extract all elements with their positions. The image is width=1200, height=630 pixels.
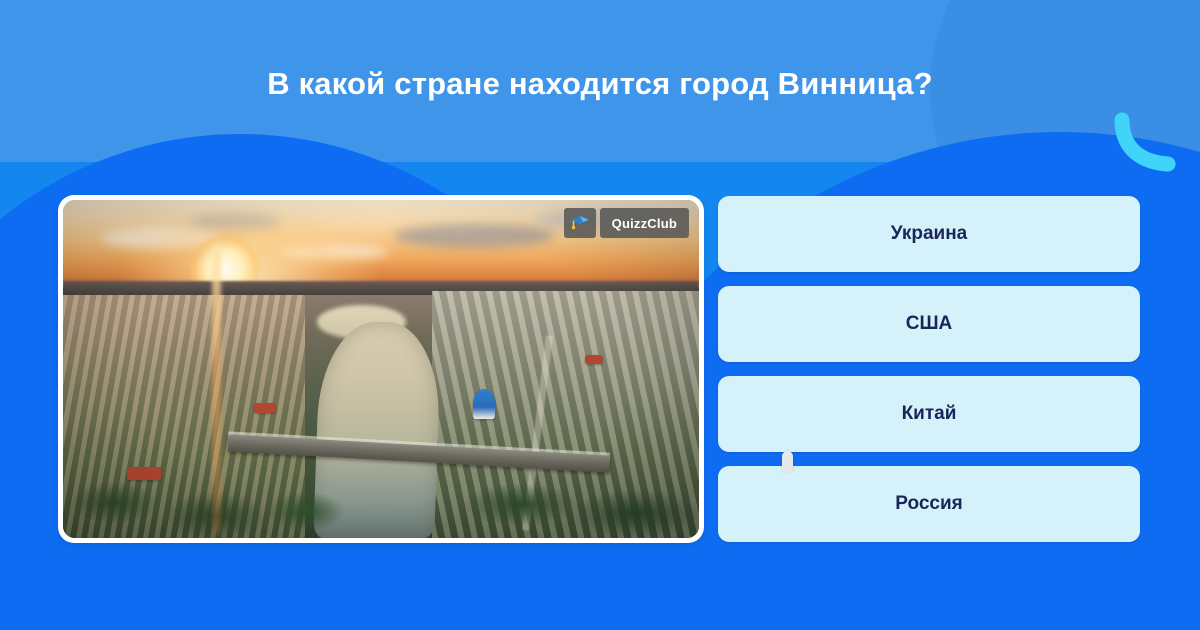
question-image-card: QuizzClub <box>58 195 704 543</box>
watermark: QuizzClub <box>564 208 689 238</box>
page-title: В какой стране находится город Винница? <box>0 66 1200 102</box>
answer-list: Украина США Китай Россия <box>718 196 1140 542</box>
answer-option-4[interactable]: Россия <box>718 466 1140 542</box>
answer-option-3[interactable]: Китай <box>718 376 1140 452</box>
swoosh-arc-icon <box>1112 112 1180 178</box>
quiz-card: В какой стране находится город Винница? <box>0 0 1200 630</box>
scroll-thumb[interactable] <box>782 451 793 473</box>
graduation-cap-icon <box>564 208 596 238</box>
answer-label: Китай <box>902 403 957 425</box>
answer-label: Украина <box>891 223 968 245</box>
answer-option-1[interactable]: Украина <box>718 196 1140 272</box>
answer-option-2[interactable]: США <box>718 286 1140 362</box>
answer-label: Россия <box>895 493 962 515</box>
watermark-brand: QuizzClub <box>600 208 689 238</box>
question-photo: QuizzClub <box>63 200 699 538</box>
answer-label: США <box>906 313 953 335</box>
photo-vignette <box>63 200 699 538</box>
